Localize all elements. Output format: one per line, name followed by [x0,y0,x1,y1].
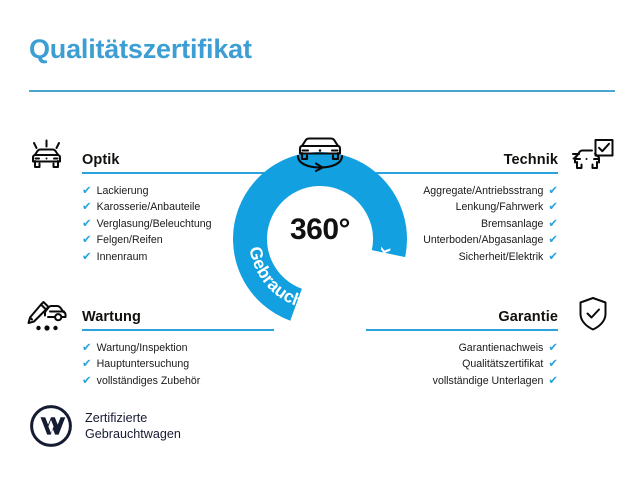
list-item: ✔ Wartung/Inspektion [82,340,274,356]
list-item-label: Felgen/Reifen [97,232,163,248]
badge-360-number: 360° [233,213,407,247]
list-item-label: Lackierung [97,183,149,199]
list-item-label: Qualitätszertifikat [462,356,543,372]
qualitaetszertifikat-page: Qualitätszertifikat [0,0,640,480]
check-icon: ✔ [82,343,92,355]
check-icon: ✔ [548,219,558,231]
list-item: ✔ vollständige Unterlagen [366,373,558,389]
check-icon: ✔ [548,235,558,247]
car-shine-icon [24,137,70,177]
list-item-label: Hauptuntersuchung [97,356,189,372]
vw-lockup: Zertifizierte Gebrauchtwagen [30,405,181,447]
check-icon: ✔ [82,376,92,388]
car-checkbox-icon [570,137,616,177]
list-item: ✔ Hauptuntersuchung [82,356,274,372]
check-icon: ✔ [548,376,558,388]
section-garantie-divider [366,329,558,331]
list-item-label: Garantienachweis [459,340,544,356]
list-item: ✔ Garantienachweis [366,340,558,356]
check-icon: ✔ [82,252,92,264]
list-item-label: Lenkung/Fahrwerk [456,199,544,215]
shield-check-icon [570,294,616,334]
list-item-label: Unterboden/Abgasanlage [423,232,543,248]
section-garantie-list: ✔ Garantienachweis ✔ Qualitätszertifikat… [366,340,616,389]
page-title: Qualitätszertifikat [29,34,252,65]
list-item-label: Sicherheit/Elektrik [459,249,544,265]
list-item-label: vollständiges Zubehör [97,373,201,389]
section-technik-title: Technik [504,152,558,168]
list-item: ✔ Qualitätszertifikat [366,356,558,372]
list-item-label: Aggregate/Antriebsstrang [423,183,543,199]
vw-logo [30,405,72,447]
section-wartung-divider [82,329,274,331]
list-item: ✔ vollständiges Zubehör [82,373,274,389]
car-rotate-icon [277,122,363,178]
list-item-label: Wartung/Inspektion [97,340,188,356]
section-wartung-list: ✔ Wartung/Inspektion ✔ Hauptuntersuchung… [24,340,274,389]
list-item-label: Verglasung/Beleuchtung [97,216,212,232]
list-item-label: vollständige Unterlagen [433,373,544,389]
vw-lockup-line1: Zertifizierte [85,410,181,427]
check-icon: ✔ [548,252,558,264]
check-icon: ✔ [82,202,92,214]
check-icon: ✔ [548,202,558,214]
section-wartung-title: Wartung [82,309,141,325]
check-icon: ✔ [548,186,558,198]
vw-lockup-line2: Gebrauchtwagen [85,426,181,443]
section-optik-title: Optik [82,152,120,168]
list-item-label: Bremsanlage [481,216,543,232]
pen-car-service-icon [24,294,70,334]
check-icon: ✔ [82,235,92,247]
section-garantie-title: Garantie [498,309,558,325]
title-divider [29,90,615,92]
check-icon: ✔ [82,186,92,198]
check-icon: ✔ [548,359,558,371]
list-item-label: Innenraum [97,249,148,265]
vw-lockup-text: Zertifizierte Gebrauchtwagen [85,410,181,443]
check-icon: ✔ [82,219,92,231]
check-icon: ✔ [82,359,92,371]
check-icon: ✔ [548,343,558,355]
list-item-label: Karosserie/Anbauteile [97,199,201,215]
